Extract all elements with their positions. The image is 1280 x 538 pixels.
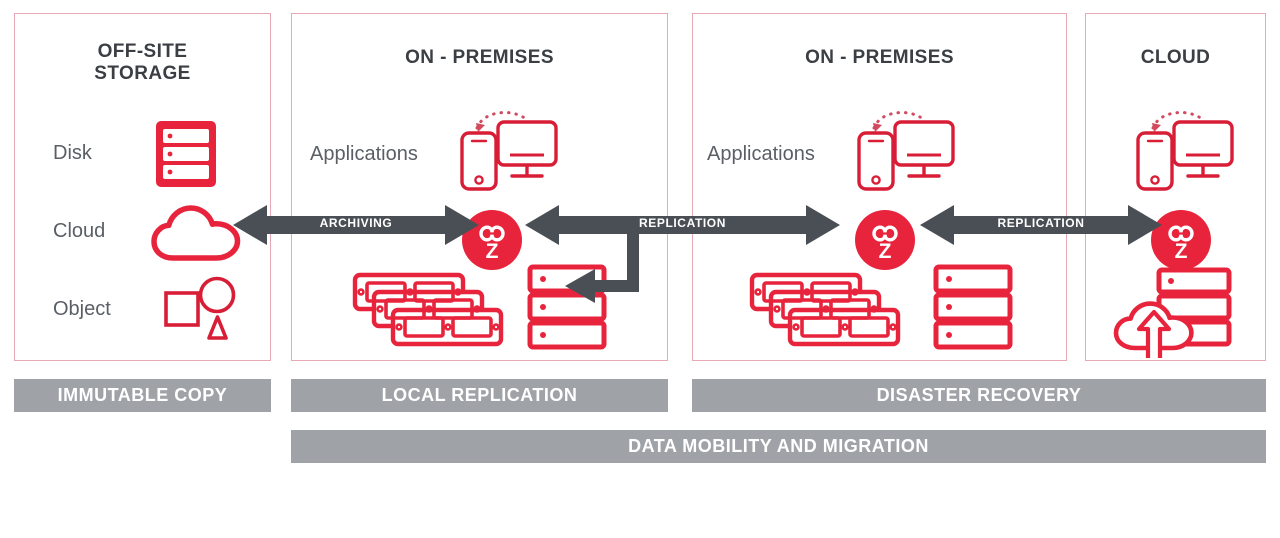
panel-title-line-2: STORAGE	[15, 63, 270, 85]
svg-text:Z: Z	[486, 240, 499, 263]
bar-data-mobility: DATA MOBILITY AND MIGRATION	[291, 430, 1266, 463]
row-label-cloud: Cloud	[53, 220, 105, 243]
object-shapes-icon	[163, 276, 243, 342]
arrow-replication-2: REPLICATION	[920, 200, 1162, 250]
applications-label-dr: Applications	[707, 143, 815, 166]
applications-label-local: Applications	[310, 143, 418, 166]
arrow-replication-1: REPLICATION	[525, 200, 840, 312]
panel-title-on-premises-local: ON - PREMISES	[292, 47, 667, 69]
devices-icon	[1126, 102, 1236, 192]
bar-local-replication-label: LOCAL REPLICATION	[382, 385, 578, 406]
panel-title-cloud: CLOUD	[1086, 47, 1265, 69]
bar-disaster-recovery-label: DISASTER RECOVERY	[877, 385, 1082, 406]
panel-off-site-storage: OFF-SITE STORAGE Disk Cloud Object	[14, 13, 271, 361]
panel-title-line-1: OFF-SITE	[15, 41, 270, 63]
cloud-icon	[151, 202, 241, 264]
bar-disaster-recovery: DISASTER RECOVERY	[692, 379, 1266, 412]
tape-library-icon	[352, 272, 504, 350]
arrow-replication-1-label: REPLICATION	[525, 216, 840, 230]
server-rack-icon	[933, 264, 1013, 350]
row-label-disk: Disk	[53, 142, 92, 165]
panel-title-off-site-storage: OFF-SITE STORAGE	[15, 41, 270, 86]
server-rack-icon	[153, 118, 219, 190]
arrow-archiving-label: ARCHIVING	[233, 216, 479, 230]
diagram-canvas: OFF-SITE STORAGE Disk Cloud Object	[0, 0, 1280, 538]
devices-icon	[847, 102, 957, 192]
panel-title-on-premises-dr: ON - PREMISES	[693, 47, 1066, 69]
bar-data-mobility-label: DATA MOBILITY AND MIGRATION	[628, 436, 929, 457]
bar-local-replication: LOCAL REPLICATION	[291, 379, 668, 412]
arrow-archiving: ARCHIVING	[233, 200, 479, 250]
panel-cloud: CLOUD Z	[1085, 13, 1266, 361]
svg-text:Z: Z	[879, 240, 892, 263]
bar-immutable-copy-label: IMMUTABLE COPY	[58, 385, 228, 406]
devices-icon	[450, 102, 560, 192]
bar-immutable-copy: IMMUTABLE COPY	[14, 379, 271, 412]
cloud-upload-storage-icon	[1111, 266, 1241, 358]
row-label-object: Object	[53, 298, 111, 321]
zerto-logo-icon: Z	[854, 209, 916, 271]
arrow-replication-2-label: REPLICATION	[920, 216, 1162, 230]
svg-text:Z: Z	[1175, 240, 1188, 263]
